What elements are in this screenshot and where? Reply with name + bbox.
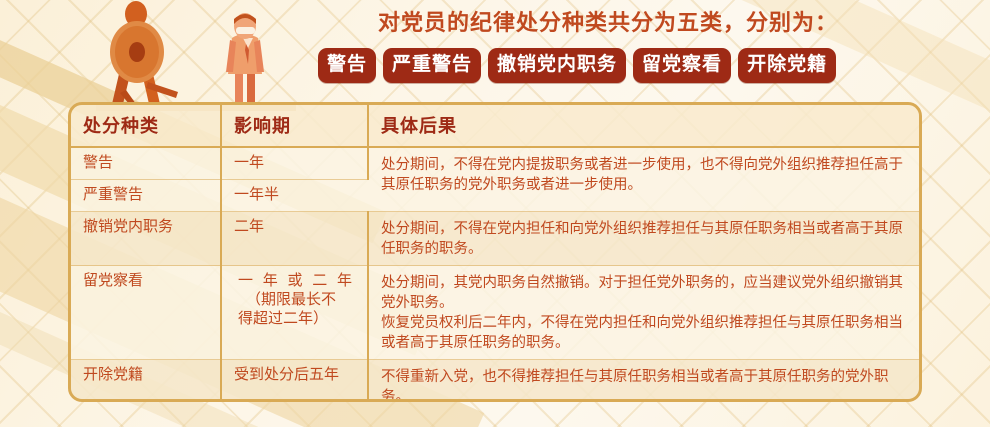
standing-person-icon [226,13,264,104]
period-line: 得超过二年） [234,310,355,329]
illustration-svg [96,0,296,112]
cell-kind: 开除党籍 [71,360,221,403]
table-header: 处分种类 影响期 具体后果 [71,105,919,147]
cell-kind: 留党察看 [71,266,221,360]
badge-warning: 警告 [318,48,376,83]
discipline-table-container: 处分种类 影响期 具体后果 警告 一年 处分期间，不得在党内提拔职务或者进一步使… [68,102,922,402]
cell-period: 一 年 或 二 年 （期限最长不 得超过二年） [221,266,368,360]
result-paragraph: 处分期间，其党内职务自然撤销。对于担任党外职务的，应当建议党外组织撤销其党外职务… [381,273,907,313]
table-row: 留党察看 一 年 或 二 年 （期限最长不 得超过二年） 处分期间，其党内职务自… [71,266,919,360]
discipline-badge-row: 警告 严重警告 撤销党内职务 留党察看 开除党籍 [318,48,836,83]
cell-result: 处分期间，其党内职务自然撤销。对于担任党外职务的，应当建议党外组织撤销其党外职务… [368,266,919,360]
column-header-period: 影响期 [221,105,368,147]
cell-period: 受到处分后五年 [221,360,368,403]
badge-probation: 留党察看 [633,48,731,83]
illustration [96,0,296,112]
table-body: 警告 一年 处分期间，不得在党内提拔职务或者进一步使用，也不得向党外组织推荐担任… [71,147,919,402]
table-header-row: 处分种类 影响期 具体后果 [71,105,919,147]
badge-expulsion: 开除党籍 [738,48,836,83]
table-row: 警告 一年 处分期间，不得在党内提拔职务或者进一步使用，也不得向党外组织推荐担任… [71,147,919,180]
cell-result: 处分期间，不得在党内提拔职务或者进一步使用，也不得向党外组织推荐担任高于其原任职… [368,147,919,212]
poster-canvas: 对党员的纪律处分种类共分为五类，分别为： 警告 严重警告 撤销党内职务 留党察看… [0,0,990,427]
period-line: （期限最长不 [234,291,355,310]
badge-serious-warning: 严重警告 [383,48,481,83]
badge-remove-post: 撤销党内职务 [488,48,626,83]
column-header-result: 具体后果 [368,105,919,147]
cell-kind: 严重警告 [71,180,221,212]
page-title: 对党员的纪律处分种类共分为五类，分别为： [378,8,978,38]
cell-result: 不得重新入党，也不得推荐担任与其原任职务相当或者高于其原任职务的党外职务。 [368,360,919,403]
cell-result: 处分期间，不得在党内担任和向党外组织推荐担任与其原任职务相当或者高于其原任职务的… [368,212,919,266]
period-multiline: 一 年 或 二 年 （期限最长不 得超过二年） [234,272,355,329]
cell-kind: 警告 [71,147,221,180]
discipline-table: 处分种类 影响期 具体后果 警告 一年 处分期间，不得在党内提拔职务或者进一步使… [71,105,919,402]
result-paragraph: 恢复党员权利后二年内，不得在党内担任和向党外组织推荐担任与其原任职务相当或者高于… [381,313,907,353]
column-header-kind: 处分种类 [71,105,221,147]
table-row: 撤销党内职务 二年 处分期间，不得在党内担任和向党外组织推荐担任与其原任职务相当… [71,212,919,266]
compass-divider-icon [110,1,178,104]
period-line: 一 年 或 二 年 [234,272,355,291]
cell-period: 二年 [221,212,368,266]
table-row: 开除党籍 受到处分后五年 不得重新入党，也不得推荐担任与其原任职务相当或者高于其… [71,360,919,403]
cell-period: 一年半 [221,180,368,212]
cell-kind: 撤销党内职务 [71,212,221,266]
cell-period: 一年 [221,147,368,180]
